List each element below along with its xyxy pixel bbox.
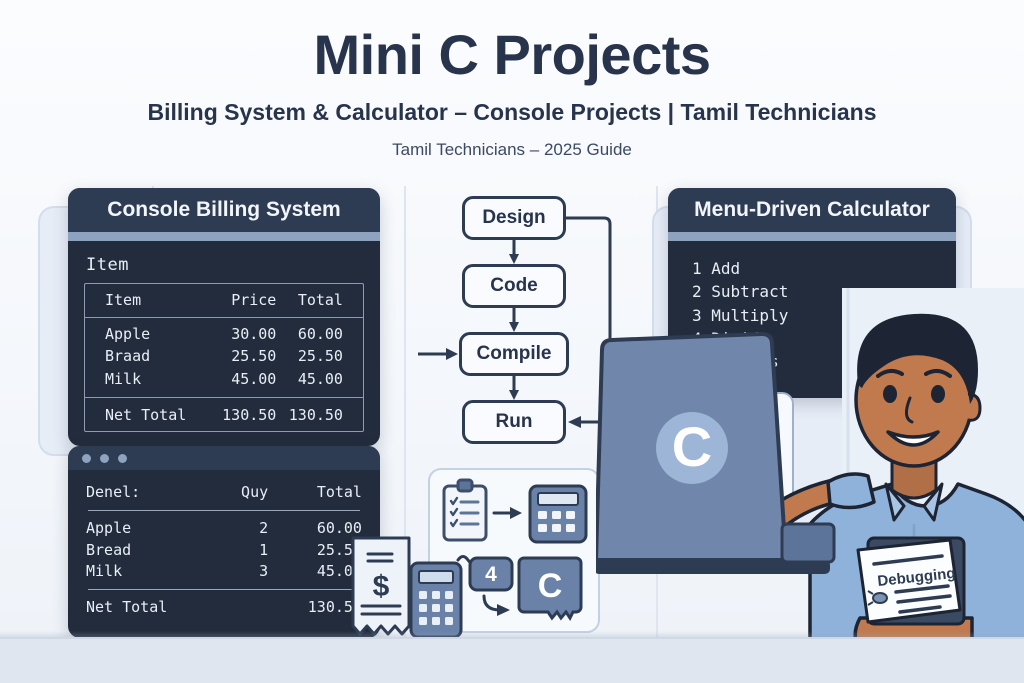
terminal-footer-row: Net Total 130.50 <box>86 597 362 618</box>
terminal-title-bar <box>68 446 380 470</box>
cell-item: Milk <box>86 561 202 582</box>
chip-label: C <box>538 567 563 605</box>
tag-4-icon: 4 <box>470 558 512 590</box>
panel-divider-strip <box>68 232 380 241</box>
terminal-col-total: Total <box>268 482 362 503</box>
dollar-icon: $ <box>373 570 390 603</box>
console-terminal-panel: Denel: Quy Total Apple 2 60.00 Bread 1 2… <box>68 446 380 638</box>
table-row: Braad 25.50 25.50 <box>95 345 353 368</box>
terminal-body: Denel: Quy Total Apple 2 60.00 Bread 1 2… <box>68 470 380 618</box>
billing-table: Item Price Total Apple 30.00 60.00 Braad… <box>84 283 364 432</box>
terminal-col-qty: Quy <box>202 482 268 503</box>
billing-table-footer: Net Total 130.50 130.50 <box>85 398 363 432</box>
cell-price: 25.50 <box>210 346 277 367</box>
page-byline: Tamil Technicians – 2025 Guide <box>0 140 1024 160</box>
laptop-icon: C <box>596 334 834 574</box>
billing-col-total: Total <box>276 290 343 311</box>
debugging-document-icon: Debugging <box>858 538 964 624</box>
cell-net-total-price: 130.50 <box>210 405 277 426</box>
poster-canvas: Mini C Projects Billing System & Calcula… <box>0 0 1024 683</box>
arrow-curve-icon <box>484 596 510 616</box>
c-chip-icon: C <box>519 558 581 618</box>
cell-net-total-label: Net Total <box>105 405 210 426</box>
terminal-rule <box>88 510 360 511</box>
billing-section-label: Item <box>86 255 364 275</box>
cell-item: Milk <box>105 369 210 390</box>
tag-label: 4 <box>485 563 497 586</box>
flow-node-run[interactable]: Run <box>462 400 566 444</box>
console-billing-panel: Console Billing System Item Item Price T… <box>68 188 380 446</box>
cell-net-total-total: 130.50 <box>276 405 343 426</box>
window-dot-icon <box>118 454 127 463</box>
billing-panel-title: Console Billing System <box>68 188 380 232</box>
flow-node-code[interactable]: Code <box>462 264 566 308</box>
cell-qty: 2 <box>202 518 268 539</box>
page-title: Mini C Projects <box>0 26 1024 85</box>
arrow-right-icon <box>494 507 522 519</box>
flow-node-compile[interactable]: Compile <box>459 332 569 376</box>
billing-col-price: Price <box>210 290 277 311</box>
menu-item[interactable]: 1 Add <box>692 257 940 280</box>
panel-divider-strip <box>668 232 956 241</box>
cell-item: Apple <box>86 518 202 539</box>
receipt-prop: $ <box>348 534 414 643</box>
cell-price: 30.00 <box>210 324 277 345</box>
billing-table-header: Item Price Total <box>85 284 363 318</box>
table-row: Apple 30.00 60.00 <box>95 323 353 346</box>
terminal-col-item: Denel: <box>86 482 202 503</box>
billing-col-item: Item <box>105 290 210 311</box>
cell-qty: 3 <box>202 561 268 582</box>
calculator-panel-title: Menu-Driven Calculator <box>668 188 956 232</box>
desk-surface <box>0 637 1024 683</box>
clipboard-icon <box>444 480 486 540</box>
cell-item: Apple <box>105 324 210 345</box>
cell-price: 45.00 <box>210 369 277 390</box>
cell-item: Bread <box>86 540 202 561</box>
table-row: Milk 45.00 45.00 <box>95 368 353 391</box>
poster-header: Mini C Projects Billing System & Calcula… <box>0 0 1024 160</box>
cell-total: 60.00 <box>276 324 343 345</box>
flow-node-design[interactable]: Design <box>462 196 566 240</box>
list-item: Apple 2 60.00 <box>86 518 362 539</box>
list-item: Milk 3 45.00 <box>86 561 362 582</box>
billing-table-body: Apple 30.00 60.00 Braad 25.50 25.50 Milk… <box>85 318 363 398</box>
cell-qty: 1 <box>202 540 268 561</box>
window-dot-icon <box>100 454 109 463</box>
laptop-logo-label: C <box>672 415 712 478</box>
cell-total: 45.00 <box>276 369 343 390</box>
calculator-icon <box>530 486 586 542</box>
window-dot-icon <box>82 454 91 463</box>
cell-total: 25.50 <box>276 346 343 367</box>
cell-net-total-qty <box>202 597 268 618</box>
page-subtitle: Billing System & Calculator – Console Pr… <box>0 99 1024 126</box>
illustration-person-with-laptop: Debugging C <box>596 288 1024 683</box>
terminal-rule <box>88 589 360 590</box>
cell-net-total-label: Net Total <box>86 597 202 618</box>
billing-panel-body: Item Item Price Total Apple 30.00 60.00 <box>68 241 380 446</box>
cell-item: Braad <box>105 346 210 367</box>
terminal-header-row: Denel: Quy Total <box>86 482 362 503</box>
list-item: Bread 1 25.50 <box>86 540 362 561</box>
